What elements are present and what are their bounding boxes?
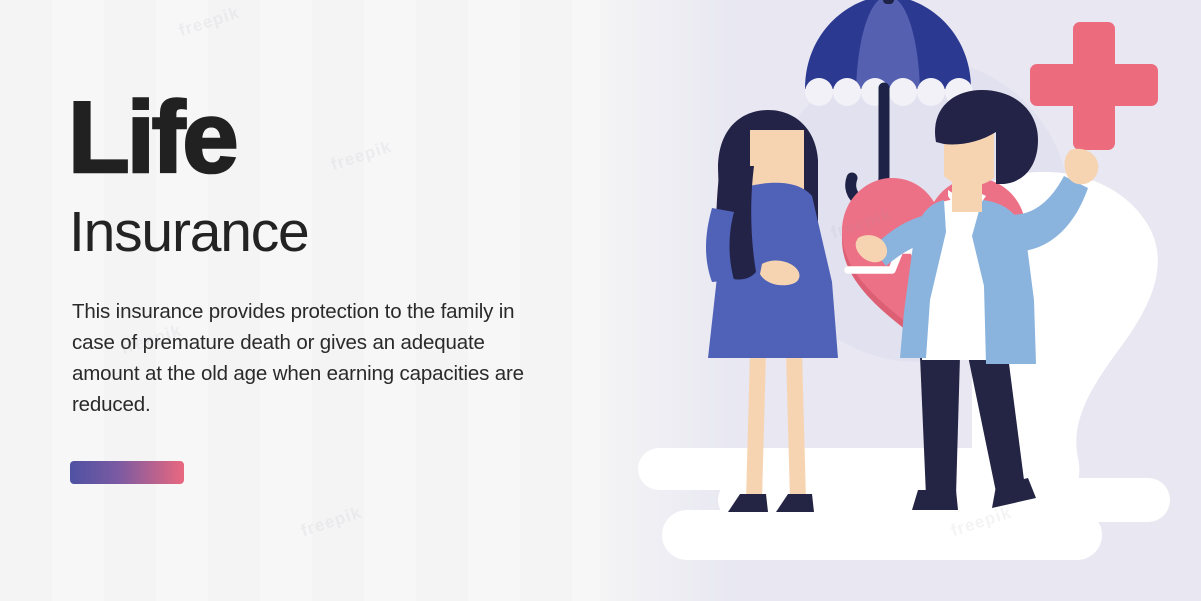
life-insurance-banner: Life Insurance This insurance provides p… [0,0,1201,601]
text-column: Life Insurance This insurance provides p… [68,0,568,601]
ground-clouds [638,448,1170,560]
illustration-couple-umbrella [600,0,1201,601]
page-title-secondary: Insurance [69,204,309,261]
page-title-primary: Life [68,88,236,189]
man-leg-left [920,356,960,496]
body-description: This insurance provides protection to th… [72,296,542,420]
man-hand-right [1065,149,1099,184]
medical-cross-icon [1030,22,1158,150]
man-shoe-left [912,490,958,510]
accent-gradient-bar [70,461,184,484]
